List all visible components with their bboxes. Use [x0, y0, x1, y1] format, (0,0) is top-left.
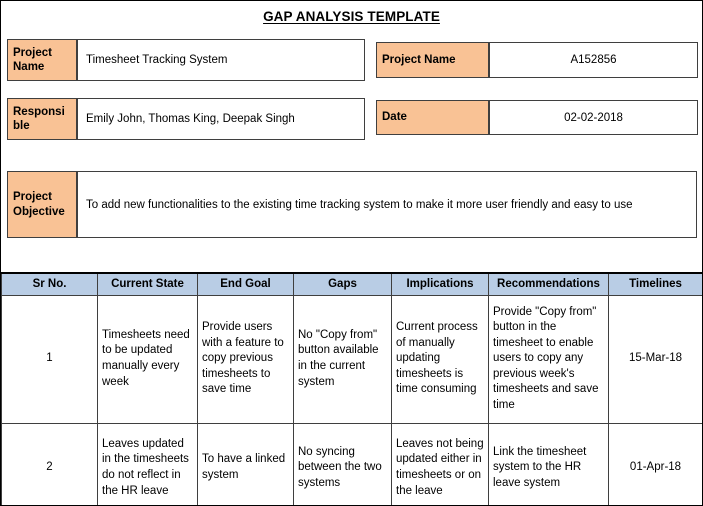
page-title: GAP ANALYSIS TEMPLATE	[263, 9, 440, 24]
cell-current-state[interactable]: Leaves updated in the timesheets do not …	[98, 423, 198, 506]
gap-matrix-body: 1 Timesheets need to be updated manually…	[2, 295, 703, 506]
responsible-value: Emily John, Thomas King, Deepak Singh	[86, 113, 295, 125]
project-objective-value-cell[interactable]: To add new functionalities to the existi…	[77, 171, 697, 238]
cell-implications[interactable]: Current process of manually updating tim…	[392, 295, 489, 423]
column-header-gaps[interactable]: Gaps	[294, 273, 392, 295]
cell-gaps[interactable]: No "Copy from" button available in the c…	[294, 295, 392, 423]
responsible-label-cell: Responsible	[7, 98, 77, 140]
cell-current-state[interactable]: Timesheets need to be updated manually e…	[98, 295, 198, 423]
column-header-current-state[interactable]: Current State	[98, 273, 198, 295]
table-row[interactable]: 2 Leaves updated in the timesheets do no…	[2, 423, 703, 506]
cell-implications[interactable]: Leaves not being updated either in times…	[392, 423, 489, 506]
date-value: 02-02-2018	[564, 112, 623, 124]
cell-timelines[interactable]: 01-Apr-18	[609, 423, 703, 506]
cell-end-goal[interactable]: Provide users with a feature to copy pre…	[198, 295, 294, 423]
date-label-cell: Date	[376, 100, 489, 135]
project-id-value-cell[interactable]: A152856	[489, 42, 698, 78]
project-objective-label: Project Objective	[13, 190, 71, 218]
date-value-cell[interactable]: 02-02-2018	[489, 100, 698, 135]
cell-sr-no[interactable]: 2	[2, 423, 98, 506]
column-header-recommendations[interactable]: Recommendations	[489, 273, 609, 295]
gap-analysis-sheet: GAP ANALYSIS TEMPLATE Project Name Times…	[0, 0, 703, 506]
project-id-value: A152856	[570, 54, 616, 66]
cell-recommendations[interactable]: Link the timesheet system to the HR leav…	[489, 423, 609, 506]
project-objective-label-cell: Project Objective	[7, 171, 77, 238]
column-header-end-goal[interactable]: End Goal	[198, 273, 294, 295]
table-header-row: Sr No. Current State End Goal Gaps Impli…	[2, 273, 703, 295]
project-name-label-cell: Project Name	[7, 39, 77, 81]
gap-matrix-head: Sr No. Current State End Goal Gaps Impli…	[2, 273, 703, 295]
table-row[interactable]: 1 Timesheets need to be updated manually…	[2, 295, 703, 423]
project-name-label: Project Name	[13, 46, 71, 74]
date-label: Date	[382, 110, 483, 124]
responsible-value-cell[interactable]: Emily John, Thomas King, Deepak Singh	[77, 98, 365, 140]
project-name-value: Timesheet Tracking System	[86, 54, 227, 66]
cell-recommendations[interactable]: Provide "Copy from" button in the timesh…	[489, 295, 609, 423]
project-id-label: Project Name	[382, 53, 483, 67]
cell-end-goal[interactable]: To have a linked system	[198, 423, 294, 506]
responsible-label: Responsible	[13, 105, 71, 133]
cell-gaps[interactable]: No syncing between the two systems	[294, 423, 392, 506]
column-header-timelines[interactable]: Timelines	[609, 273, 703, 295]
column-header-implications[interactable]: Implications	[392, 273, 489, 295]
project-objective-value: To add new functionalities to the existi…	[86, 199, 633, 211]
project-id-label-cell: Project Name	[376, 42, 489, 78]
cell-sr-no[interactable]: 1	[2, 295, 98, 423]
column-header-sr-no[interactable]: Sr No.	[2, 273, 98, 295]
document-title-bar: GAP ANALYSIS TEMPLATE	[1, 1, 702, 31]
cell-timelines[interactable]: 15-Mar-18	[609, 295, 703, 423]
project-name-value-cell[interactable]: Timesheet Tracking System	[77, 39, 365, 81]
gap-matrix-table: Sr No. Current State End Goal Gaps Impli…	[1, 272, 703, 506]
